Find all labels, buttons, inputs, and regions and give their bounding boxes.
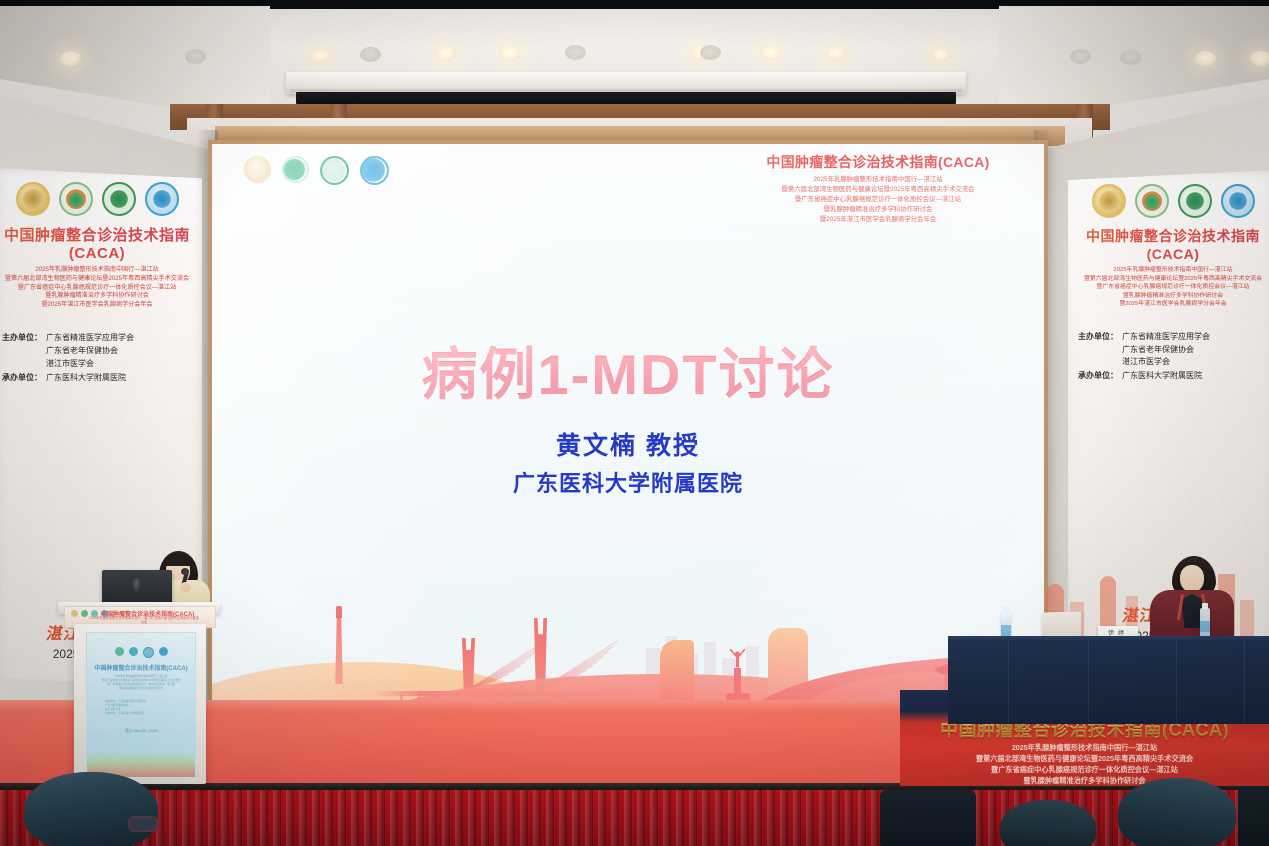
skirt-pleat [741, 790, 749, 846]
green-circle-logo-icon [102, 182, 136, 216]
skirt-pleat [390, 790, 398, 846]
blue-circle-logo-icon [145, 182, 179, 216]
skirt-pleat [468, 790, 476, 846]
ceiling-downlight [565, 45, 586, 60]
blue-circle-logo-icon [159, 647, 168, 656]
skirt-pleat [13, 790, 21, 846]
skirt-pleat [351, 790, 359, 846]
host-label: 主办单位： [2, 332, 42, 370]
podium-body: 中国肿瘤整合诊治技术指南(CACA) 2025年乳腺肿瘤整形技术指南中国行—湛江… [74, 624, 206, 784]
skirt-pleat [182, 790, 190, 846]
ceiling-downlight [500, 46, 521, 61]
slide-header-sub: 暨2025年湛江市医学会乳腺病学分会年会 [728, 215, 1028, 225]
slide-header-title: 中国肿瘤整合诊治技术指南(CACA) [728, 152, 1028, 172]
skirt-pleat [715, 790, 723, 846]
skirt-pleat [442, 790, 450, 846]
skirt-pleat [169, 790, 177, 846]
backdrop-sub: 暨第六届北部湾生物医药与健康论坛暨2025年粤西高精尖手术交流会 [900, 753, 1269, 764]
presentation-slide: 中国肿瘤整合诊治技术指南(CACA) 2025年乳腺肿瘤整形技术指南中国行—湛江… [212, 144, 1044, 736]
organizer-label: 承办单位： [1078, 370, 1118, 383]
skirt-pleat [780, 790, 788, 846]
statue-column [734, 668, 741, 694]
host-value: 湛江市医学会 [1122, 356, 1210, 369]
slide-header-subtitles: 2025年乳腺肿瘤整形技术指南中国行—湛江站 暨第六届北部湾生物医药与健康论坛暨… [728, 175, 1028, 225]
banner-right-sub: 暨2025年湛江市医学会乳腺病学分会年会 [1074, 300, 1269, 309]
skirt-pleat [572, 790, 580, 846]
banner-right-sub: 暨广东省癌症中心乳腺癌规范诊疗一体化质控会议—湛江站 [1074, 283, 1269, 292]
podium-poster-panel: 中国肿瘤整合诊治技术指南(CACA) 2025年乳腺肿瘤整形技术指南中国行—湛江… [86, 632, 196, 778]
ceiling-downlight [60, 51, 81, 66]
blue-circle-logo-icon [360, 156, 389, 185]
skirt-pleat [624, 790, 632, 846]
building-shape [660, 640, 694, 702]
projection-screen-frame: 中国肿瘤整合诊治技术指南(CACA) 2025年乳腺肿瘤整形技术指南中国行—湛江… [208, 140, 1048, 740]
bridge-pylon [462, 638, 475, 692]
orange-green-logo-icon [1135, 184, 1169, 218]
presenter-fringe [164, 554, 192, 566]
green-circle-logo-icon [81, 610, 88, 617]
skirt-pleat [429, 790, 437, 846]
audience-head-center-right [1000, 800, 1096, 846]
lighthouse-tower [334, 616, 344, 684]
slide-header: 中国肿瘤整合诊治技术指南(CACA) 2025年乳腺肿瘤整形技术指南中国行—湛江… [728, 152, 1028, 225]
host-value: 湛江市医学会 [46, 358, 134, 371]
podium-poster-date: 湛江 Nov.22, 2025 [87, 728, 195, 734]
organizer-value: 广东医科大学附属医院 [46, 372, 126, 385]
skirt-pleat [637, 790, 645, 846]
skirt-pleat [650, 790, 658, 846]
podium-poster-org: 承办单位：广东医科大学附属医院 [105, 712, 177, 716]
ceiling-downlight [310, 48, 331, 63]
skirt-pleat [234, 790, 242, 846]
audience-head-front-left [24, 772, 158, 846]
audience-head-front-right [1118, 778, 1236, 846]
slide-header-sub: 暨广东省癌症中心乳腺癌规范诊疗一体化质控会议—湛江站 [728, 195, 1028, 205]
host-value: 广东省老年保健协会 [46, 345, 134, 358]
podium-poster-title: 中国肿瘤整合诊治技术指南(CACA) [87, 663, 195, 672]
organizer-row: 承办单位： 广东医科大学附属医院 [1078, 370, 1268, 383]
skirt-pleat [988, 790, 996, 846]
host-value: 广东省精准医学应用学会 [46, 332, 134, 345]
skirt-pleat [455, 790, 463, 846]
ceiling-downlight [1120, 50, 1141, 65]
banner-left-organizations: 主办单位： 广东省精准医学应用学会 广东省老年保健协会 湛江市医学会 承办单位：… [0, 332, 202, 384]
skirt-pleat [416, 790, 424, 846]
skirt-pleat [832, 790, 840, 846]
banner-right-sub: 暨乳腺肿瘤精准治疗多学科协作研讨会 [1074, 292, 1269, 301]
panelist-face [1180, 565, 1204, 592]
slide-header-sub: 暨第六届北部湾生物医药与健康论坛暨2025年粤西高精尖手术交流会 [728, 185, 1028, 195]
skirt-pleat [663, 790, 671, 846]
skirt-pleat [819, 790, 827, 846]
skirt-pleat [585, 790, 593, 846]
banner-right-organizations: 主办单位： 广东省精准医学应用学会 广东省老年保健协会 湛江市医学会 承办单位：… [1068, 331, 1269, 383]
backdrop-sub: 2025年乳腺肿瘤整形技术指南中国行—湛江站 [900, 742, 1269, 753]
host-value: 广东省老年保健协会 [1122, 344, 1210, 357]
chair-back [1238, 786, 1269, 846]
skirt-pleat [494, 790, 502, 846]
skirt-pleat [871, 790, 879, 846]
panelist-figure [1148, 556, 1234, 642]
backdrop-sub: 暨广东省癌症中心乳腺癌规范诊疗一体化质控会议—湛江站 [900, 764, 1269, 775]
skirt-pleat [1105, 790, 1113, 846]
host-row: 主办单位： 广东省精准医学应用学会 广东省老年保健协会 湛江市医学会 [1078, 331, 1268, 369]
organizer-row: 承办单位： 广东医科大学附属医院 [2, 372, 192, 385]
host-value: 广东省精准医学应用学会 [1122, 331, 1210, 344]
presenter-hand [180, 582, 191, 592]
banner-right-subtitles: 2025年乳腺肿瘤整形技术指南中国行—湛江站 暨第六届北部湾生物医药与健康论坛暨… [1068, 266, 1269, 309]
skirt-pleat [676, 790, 684, 846]
skirt-pleat [325, 790, 333, 846]
caca-gold-logo-icon [16, 182, 50, 216]
caca-gold-logo-icon [244, 156, 271, 183]
skirt-pleat [793, 790, 801, 846]
podium-poster-subs: 2025年乳腺肿瘤整形技术指南中国行—湛江站 暨第六届北部湾生物医药与健康论坛暨… [87, 675, 195, 691]
skirt-pleat [364, 790, 372, 846]
skirt-pleat [312, 790, 320, 846]
banner-right-title: 中国肿瘤整合诊治技术指南(CACA) [1068, 226, 1269, 262]
skirt-pleat [286, 790, 294, 846]
caca-gold-logo-icon [71, 610, 78, 617]
organizer-values: 广东医科大学附属医院 [1122, 370, 1202, 383]
conference-photo-scene: 中国肿瘤整合诊治技术指南(CACA) 2025年乳腺肿瘤整形技术指南中国行—湛江… [0, 0, 1269, 846]
skirt-pleat [546, 790, 554, 846]
skirt-pleat [273, 790, 281, 846]
backdrop-subtitles: 2025年乳腺肿瘤整形技术指南中国行—湛江站 暨第六届北部湾生物医药与健康论坛暨… [900, 742, 1269, 786]
skirt-pleat [377, 790, 385, 846]
organizer-value: 广东医科大学附属医院 [1122, 370, 1202, 383]
banner-left-subtitles: 2025年乳腺肿瘤整形技术指南中国行—湛江站 暨第六届北部湾生物医药与健康论坛暨… [0, 266, 202, 310]
skirt-pleat [533, 790, 541, 846]
slide-header-sub: 2025年乳腺肿瘤整形技术指南中国行—湛江站 [728, 175, 1028, 185]
podium-poster-sub: 暨乳腺肿瘤精准治疗多学科协作研讨会 [93, 687, 189, 691]
banner-left-sub: 暨第六届北部湾生物医药与健康论坛暨2025年粤西高精尖手术交流会 [0, 275, 196, 284]
skirt-pleat [767, 790, 775, 846]
skirt-pleat [975, 790, 983, 846]
host-label: 主办单位： [1078, 331, 1118, 369]
banner-left-sub: 2025年乳腺肿瘤整形技术指南中国行—湛江站 [0, 266, 196, 275]
skirt-pleat [247, 790, 255, 846]
green-circle-logo-icon [282, 156, 309, 183]
banner-left-sub: 暨乳腺肿瘤精准治疗多学科协作研讨会 [0, 292, 196, 301]
organizer-label: 承办单位： [2, 372, 42, 385]
teal-circle-logo-icon [129, 647, 138, 656]
banner-right-sub: 暨第六届北部湾生物医药与健康论坛暨2025年粤西高精尖手术交流会 [1074, 275, 1269, 284]
skirt-pleat [845, 790, 853, 846]
organizer-values: 广东医科大学附属医院 [46, 372, 126, 385]
banner-left-title: 中国肿瘤整合诊治技术指南(CACA) [0, 224, 202, 262]
slide-speaker-name: 黄文楠 教授 [212, 426, 1044, 462]
host-values: 广东省精准医学应用学会 广东省老年保健协会 湛江市医学会 [46, 332, 134, 370]
skirt-pleat [754, 790, 762, 846]
podium-poster-logos [87, 633, 195, 658]
skirt-pleat [702, 790, 710, 846]
ceiling-downlight [1250, 51, 1269, 66]
caca-gold-logo-icon [1092, 184, 1126, 218]
skirt-pleat [299, 790, 307, 846]
ring-logo-icon [143, 647, 154, 658]
chair-back [880, 790, 976, 846]
podium-poster-orgs: 主办单位：广东省精准医学应用学会 广东省老年保健协会 湛江市医学会 承办单位：广… [87, 700, 195, 717]
teal-circle-logo-icon [320, 156, 349, 185]
skirt-pleat [195, 790, 203, 846]
banner-right-sub: 2025年乳腺肿瘤整形技术指南中国行—湛江站 [1074, 266, 1269, 275]
microphone-head [181, 568, 189, 575]
skirt-pleat [559, 790, 567, 846]
skirt-pleat [728, 790, 736, 846]
skirt-pleat [611, 790, 619, 846]
green-circle-logo-icon [115, 647, 124, 656]
skirt-pleat [520, 790, 528, 846]
skirt-pleat [403, 790, 411, 846]
podium-assembly: 中国肿瘤整合诊治技术指南(CACA) 2025年乳腺肿瘤整形技术指南中国行—湛江… [58, 556, 220, 786]
panel-table-skirt [948, 640, 1269, 724]
skirt-pleat [221, 790, 229, 846]
skirt-pleat [507, 790, 515, 846]
orange-green-logo-icon [59, 182, 93, 216]
green-circle-logo-icon [1178, 184, 1212, 218]
skirt-pleat [481, 790, 489, 846]
banner-left-sub: 暨2025年湛江市医学会乳腺病学分会年会 [0, 301, 196, 310]
statue-figure-icon [728, 648, 747, 670]
skirt-pleat [598, 790, 606, 846]
ceiling-downlight [700, 45, 721, 60]
skirt-pleat [689, 790, 697, 846]
slide-header-sub: 暨乳腺肿瘤精准治疗多学科协作研讨会 [728, 205, 1028, 215]
host-row: 主办单位： 广东省精准医学应用学会 广东省老年保健协会 湛江市医学会 [2, 332, 192, 370]
slide-logo-row [244, 156, 389, 185]
skirt-pleat [260, 790, 268, 846]
ceiling-downlight [1195, 51, 1216, 66]
skirt-pleat [806, 790, 814, 846]
podium-laptop [102, 570, 172, 604]
skirt-pleat [0, 790, 8, 846]
lighthouse-lamp [336, 606, 342, 618]
host-values: 广东省精准医学应用学会 广东省老年保健协会 湛江市医学会 [1122, 331, 1210, 369]
slide-main-title: 病例1-MDT讨论 [212, 330, 1044, 411]
blue-circle-logo-icon [1221, 184, 1255, 218]
skirt-pleat [338, 790, 346, 846]
skirt-pleat [858, 790, 866, 846]
skirt-pleat [208, 790, 216, 846]
projector-screen-slot [296, 92, 956, 104]
slide-speaker-affiliation: 广东医科大学附属医院 [212, 466, 1044, 498]
audience-eyeglasses [128, 816, 158, 832]
